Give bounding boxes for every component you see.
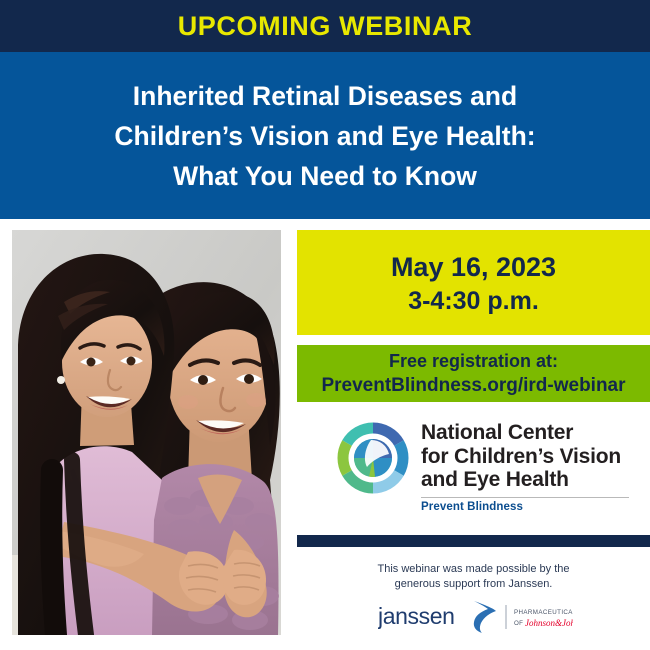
navy-divider-bar bbox=[297, 535, 650, 547]
nccveh-logo-text: National Center for Children’s Vision an… bbox=[421, 420, 629, 513]
banner-label: UPCOMING WEBINAR bbox=[178, 13, 473, 40]
sponsor-credit-line-2: generous support from Janssen. bbox=[297, 577, 650, 592]
registration-url[interactable]: PreventBlindness.org/ird-webinar bbox=[321, 373, 625, 398]
johnson-and-johnson-wordmark: Johnson&Johnson bbox=[525, 618, 573, 628]
date-time-block: May 16, 2023 3-4:30 p.m. bbox=[297, 230, 650, 335]
nccveh-logo: National Center for Children’s Vision an… bbox=[337, 420, 637, 513]
janssen-logo: janssen PHARMACEUTICAL COMPANIES OF John… bbox=[378, 597, 573, 635]
webinar-date: May 16, 2023 bbox=[391, 249, 556, 285]
title-line-2: Children’s Vision and Eye Health: bbox=[114, 116, 535, 156]
webinar-title-block: Inherited Retinal Diseases and Children’… bbox=[0, 52, 650, 219]
janssen-swoosh-icon bbox=[474, 601, 496, 633]
janssen-wordmark: janssen bbox=[378, 603, 454, 629]
nccveh-logo-mark bbox=[337, 422, 409, 494]
title-line-3: What You Need to Know bbox=[173, 156, 477, 196]
sponsor-credit: This webinar was made possible by the ge… bbox=[297, 562, 650, 592]
hero-photo-illustration bbox=[12, 230, 281, 635]
logo-name-line-3: and Eye Health bbox=[421, 468, 629, 492]
registration-label: Free registration at: bbox=[389, 349, 558, 373]
janssen-affiliation-line-1: PHARMACEUTICAL COMPANIES bbox=[514, 609, 573, 616]
sponsor-credit-line-1: This webinar was made possible by the bbox=[297, 562, 650, 577]
janssen-logo-svg: janssen PHARMACEUTICAL COMPANIES OF John… bbox=[378, 597, 573, 635]
janssen-affiliation-prefix: OF bbox=[514, 620, 523, 627]
logo-divider bbox=[421, 497, 629, 498]
title-line-1: Inherited Retinal Diseases and bbox=[133, 76, 517, 116]
logo-tagline: Prevent Blindness bbox=[421, 501, 629, 513]
logo-name-line-2: for Children’s Vision bbox=[421, 445, 629, 469]
registration-block[interactable]: Free registration at: PreventBlindness.o… bbox=[297, 345, 650, 402]
webinar-time: 3-4:30 p.m. bbox=[408, 285, 539, 317]
hero-photo bbox=[12, 230, 281, 635]
eye-circle-icon bbox=[337, 422, 409, 494]
logo-name-line-1: National Center bbox=[421, 421, 629, 445]
upcoming-webinar-banner: UPCOMING WEBINAR bbox=[0, 0, 650, 52]
